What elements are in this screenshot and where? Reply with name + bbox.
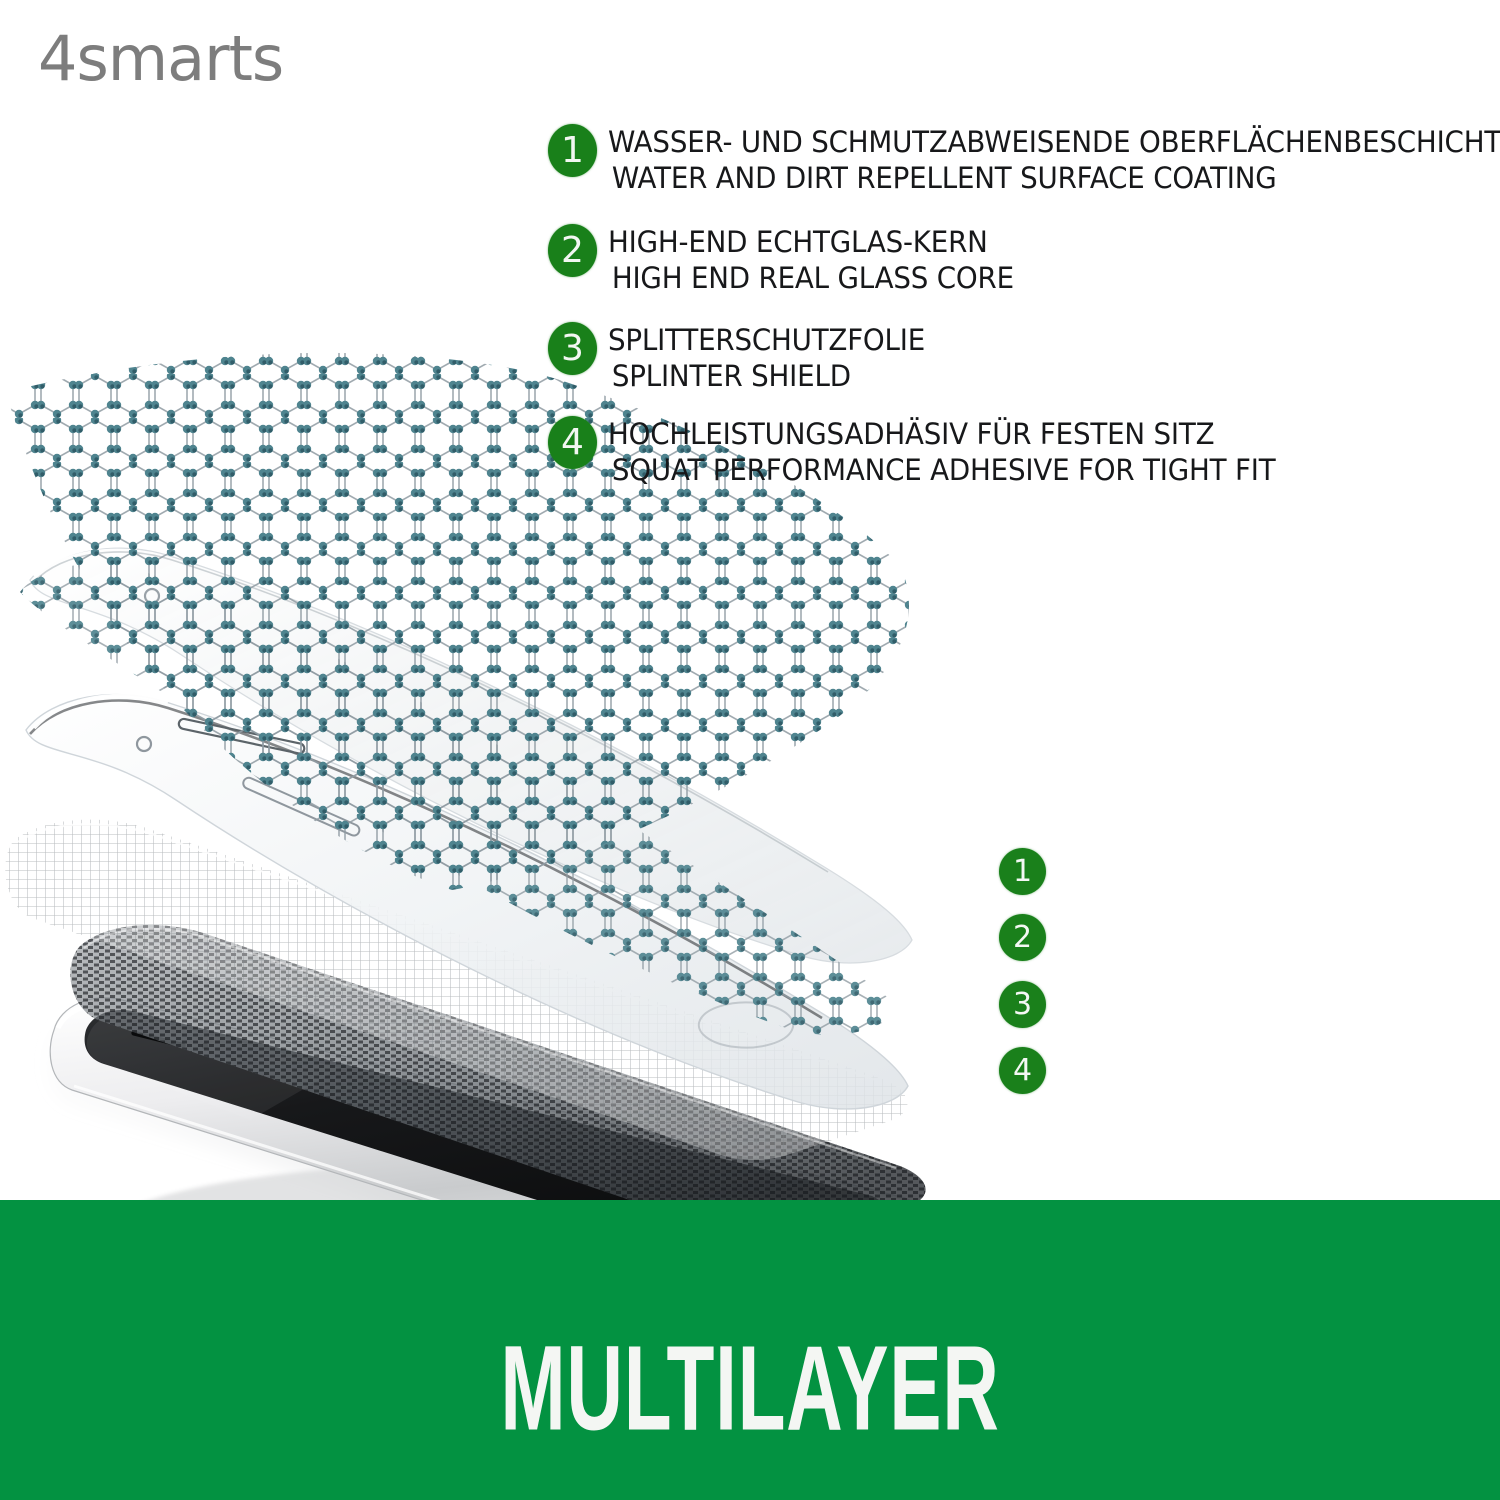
feature-text-de-4: HOCHLEISTUNGSADHÄSIV FÜR FESTEN SITZ xyxy=(608,416,1448,452)
feature-badge-1: 1 xyxy=(548,124,597,177)
feature-text-en-2: HIGH END REAL GLASS CORE xyxy=(608,260,1448,296)
feature-text-de-2: HIGH-END ECHTGLAS-KERN xyxy=(608,224,1448,260)
layer-callout-3: 3 xyxy=(999,981,1046,1028)
feature-item-3: 3 SPLITTERSCHUTZFOLIE SPLINTER SHIELD xyxy=(548,322,1488,400)
feature-text-en-1: WATER AND DIRT REPELLENT SURFACE COATING xyxy=(608,160,1448,196)
bottom-banner: MULTILAYER xyxy=(0,1200,1500,1500)
feature-text-1: WASSER- UND SCHMUTZABWEISENDE OBERFLÄCHE… xyxy=(608,124,1488,196)
feature-item-4: 4 HOCHLEISTUNGSADHÄSIV FÜR FESTEN SITZ S… xyxy=(548,416,1488,494)
layer-callout-2: 2 xyxy=(999,914,1046,961)
feature-badge-2: 2 xyxy=(548,224,597,277)
feature-item-2: 2 HIGH-END ECHTGLAS-KERN HIGH END REAL G… xyxy=(548,224,1488,302)
feature-text-en-4: SQUAT PERFORMANCE ADHESIVE FOR TIGHT FIT xyxy=(608,452,1448,488)
feature-text-2: HIGH-END ECHTGLAS-KERN HIGH END REAL GLA… xyxy=(608,224,1488,296)
feature-item-1: 1 WASSER- UND SCHMUTZABWEISENDE OBERFLÄC… xyxy=(548,124,1488,202)
infographic-canvas: 4smarts xyxy=(0,0,1500,1500)
banner-title: MULTILAYER xyxy=(225,1328,1275,1449)
feature-text-de-3: SPLITTERSCHUTZFOLIE xyxy=(608,322,1448,358)
brand-logo: 4smarts xyxy=(38,28,283,90)
layer-callout-4: 4 xyxy=(999,1047,1046,1094)
feature-text-3: SPLITTERSCHUTZFOLIE SPLINTER SHIELD xyxy=(608,322,1488,394)
feature-text-de-1: WASSER- UND SCHMUTZABWEISENDE OBERFLÄCHE… xyxy=(608,124,1448,160)
feature-badge-4: 4 xyxy=(548,416,597,469)
feature-text-en-3: SPLINTER SHIELD xyxy=(608,358,1448,394)
feature-list: 1 WASSER- UND SCHMUTZABWEISENDE OBERFLÄC… xyxy=(548,124,1488,468)
feature-badge-3: 3 xyxy=(548,322,597,375)
layer-callout-1: 1 xyxy=(999,848,1046,895)
feature-text-4: HOCHLEISTUNGSADHÄSIV FÜR FESTEN SITZ SQU… xyxy=(608,416,1488,488)
